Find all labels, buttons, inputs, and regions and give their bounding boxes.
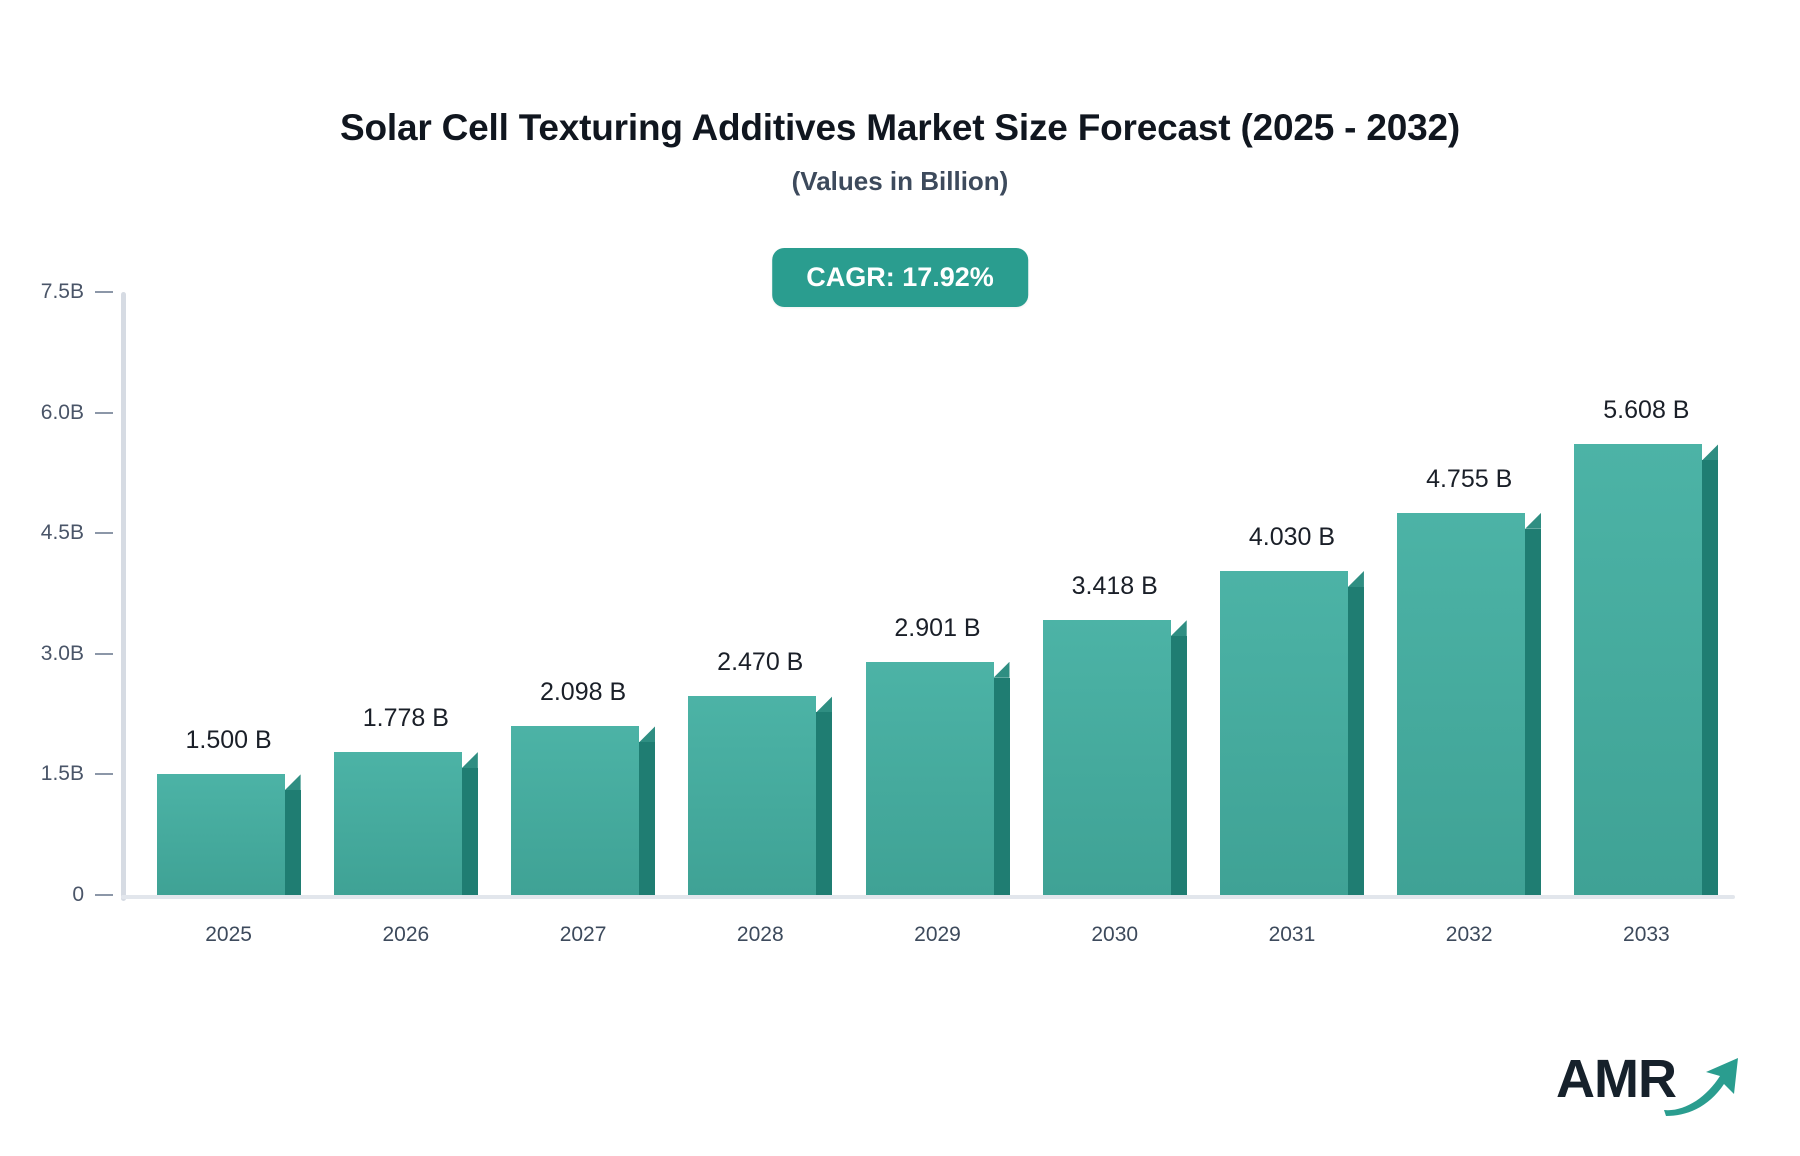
x-axis-tick-label: 2031 xyxy=(1269,923,1316,947)
bar xyxy=(866,0,1010,895)
x-axis-tick-label: 2026 xyxy=(382,923,429,947)
bar-front-face xyxy=(1043,620,1171,895)
bar-value-label: 1.500 B xyxy=(186,726,272,755)
y-axis-tick-label: 1.5B xyxy=(0,762,84,786)
bar-side-face xyxy=(462,768,478,895)
bar-front-face xyxy=(157,774,285,895)
bar-top-face xyxy=(1171,620,1187,636)
bar-top-face xyxy=(1348,571,1364,587)
y-axis-tick-label: 7.5B xyxy=(0,280,84,304)
y-axis-tick-label: 6.0B xyxy=(0,401,84,425)
x-axis-tick-label: 2032 xyxy=(1446,923,1493,947)
y-axis-line xyxy=(121,292,126,901)
bar-value-label: 1.778 B xyxy=(363,704,449,733)
bar-side-face xyxy=(639,742,655,895)
y-axis-tick-mark xyxy=(95,894,113,896)
bar-front-face xyxy=(1220,571,1348,895)
bar-side-face xyxy=(994,678,1010,895)
bar xyxy=(1043,0,1187,895)
bar-top-face xyxy=(816,696,832,712)
amr-logo-text: AMR xyxy=(1556,1052,1676,1106)
bar-top-face xyxy=(285,774,301,790)
bar-top-face xyxy=(1702,444,1718,460)
bar xyxy=(1220,0,1364,895)
x-axis-tick-label: 2025 xyxy=(205,923,252,947)
bar-front-face xyxy=(1574,444,1702,895)
bar-side-face xyxy=(1171,636,1187,895)
bar-side-face xyxy=(1348,587,1364,895)
bar-front-face xyxy=(688,696,816,895)
bar-side-face xyxy=(816,712,832,895)
bar xyxy=(334,0,478,895)
x-axis-tick-label: 2030 xyxy=(1091,923,1138,947)
amr-logo: AMR xyxy=(1556,1044,1744,1114)
bar-value-label: 2.098 B xyxy=(540,678,626,707)
bar-front-face xyxy=(334,752,462,895)
bar-value-label: 2.901 B xyxy=(894,614,980,643)
bar-front-face xyxy=(866,662,994,895)
bar-top-face xyxy=(639,726,655,742)
y-axis-tick-mark xyxy=(95,291,113,293)
x-axis-tick-label: 2027 xyxy=(560,923,607,947)
x-axis-tick-label: 2033 xyxy=(1623,923,1670,947)
y-axis-tick-mark xyxy=(95,532,113,534)
bar xyxy=(157,0,301,895)
x-axis-line xyxy=(121,895,1735,899)
bar-top-face xyxy=(994,662,1010,678)
y-axis-tick-mark xyxy=(95,773,113,775)
bar-side-face xyxy=(1702,460,1718,895)
bar-value-label: 4.755 B xyxy=(1426,465,1512,494)
bar xyxy=(1574,0,1718,895)
bar xyxy=(511,0,655,895)
x-axis-tick-label: 2029 xyxy=(914,923,961,947)
bar-side-face xyxy=(285,790,301,895)
bar-value-label: 3.418 B xyxy=(1072,572,1158,601)
bar-top-face xyxy=(462,752,478,768)
chart-plot-area: 01.5B3.0B4.5B6.0B7.5B 1.500 B1.778 B2.09… xyxy=(0,0,1800,1156)
bar xyxy=(1397,0,1541,895)
bar xyxy=(688,0,832,895)
bar-value-label: 2.470 B xyxy=(717,648,803,677)
bar-value-label: 5.608 B xyxy=(1603,396,1689,425)
trend-up-arrow-icon xyxy=(1662,1054,1744,1121)
bar-value-label: 4.030 B xyxy=(1249,523,1335,552)
bar-front-face xyxy=(1397,513,1525,895)
y-axis-tick-label: 0 xyxy=(0,883,84,907)
y-axis-tick-label: 3.0B xyxy=(0,642,84,666)
y-axis-tick-mark xyxy=(95,653,113,655)
x-axis-tick-label: 2028 xyxy=(737,923,784,947)
bar-side-face xyxy=(1525,529,1541,895)
y-axis-tick-mark xyxy=(95,412,113,414)
bar-top-face xyxy=(1525,513,1541,529)
bar-front-face xyxy=(511,726,639,895)
y-axis-tick-label: 4.5B xyxy=(0,521,84,545)
